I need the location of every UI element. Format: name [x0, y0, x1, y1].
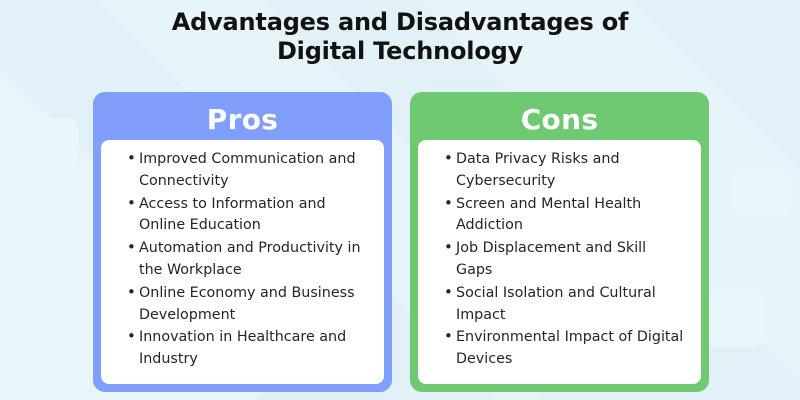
list-item: Improved Communication and Connectivity [129, 149, 370, 193]
list-item: Environmental Impact of Digital Devices [446, 327, 687, 371]
list-item: Job Displacement and Skill Gaps [446, 238, 687, 282]
cons-card: Cons Data Privacy Risks and Cybersecurit… [410, 92, 709, 392]
pros-card: Pros Improved Communication and Connecti… [93, 92, 392, 392]
comparison-columns: Pros Improved Communication and Connecti… [93, 92, 709, 392]
background-square-left [8, 118, 78, 166]
list-item: Screen and Mental Health Addiction [446, 194, 687, 238]
cons-card-body: Data Privacy Risks and Cybersecurity Scr… [418, 140, 701, 384]
pros-list: Improved Communication and Connectivity … [107, 149, 370, 371]
page-title: Advantages and Disadvantages of Digital … [0, 8, 800, 66]
pros-card-body: Improved Communication and Connectivity … [101, 140, 384, 384]
list-item: Innovation in Healthcare and Industry [129, 327, 370, 371]
list-item: Automation and Productivity in the Workp… [129, 238, 370, 282]
list-item: Access to Information and Online Educati… [129, 194, 370, 238]
cons-list: Data Privacy Risks and Cybersecurity Scr… [424, 149, 687, 371]
list-item: Social Isolation and Cultural Impact [446, 283, 687, 327]
page-title-line-2: Digital Technology [0, 37, 800, 66]
list-item: Data Privacy Risks and Cybersecurity [446, 149, 687, 193]
background-square-right-upper [732, 172, 792, 212]
pros-heading: Pros [101, 100, 384, 140]
list-item: Online Economy and Business Development [129, 283, 370, 327]
cons-heading: Cons [418, 100, 701, 140]
infographic-canvas: Advantages and Disadvantages of Digital … [0, 0, 800, 400]
page-title-line-1: Advantages and Disadvantages of [0, 8, 800, 37]
